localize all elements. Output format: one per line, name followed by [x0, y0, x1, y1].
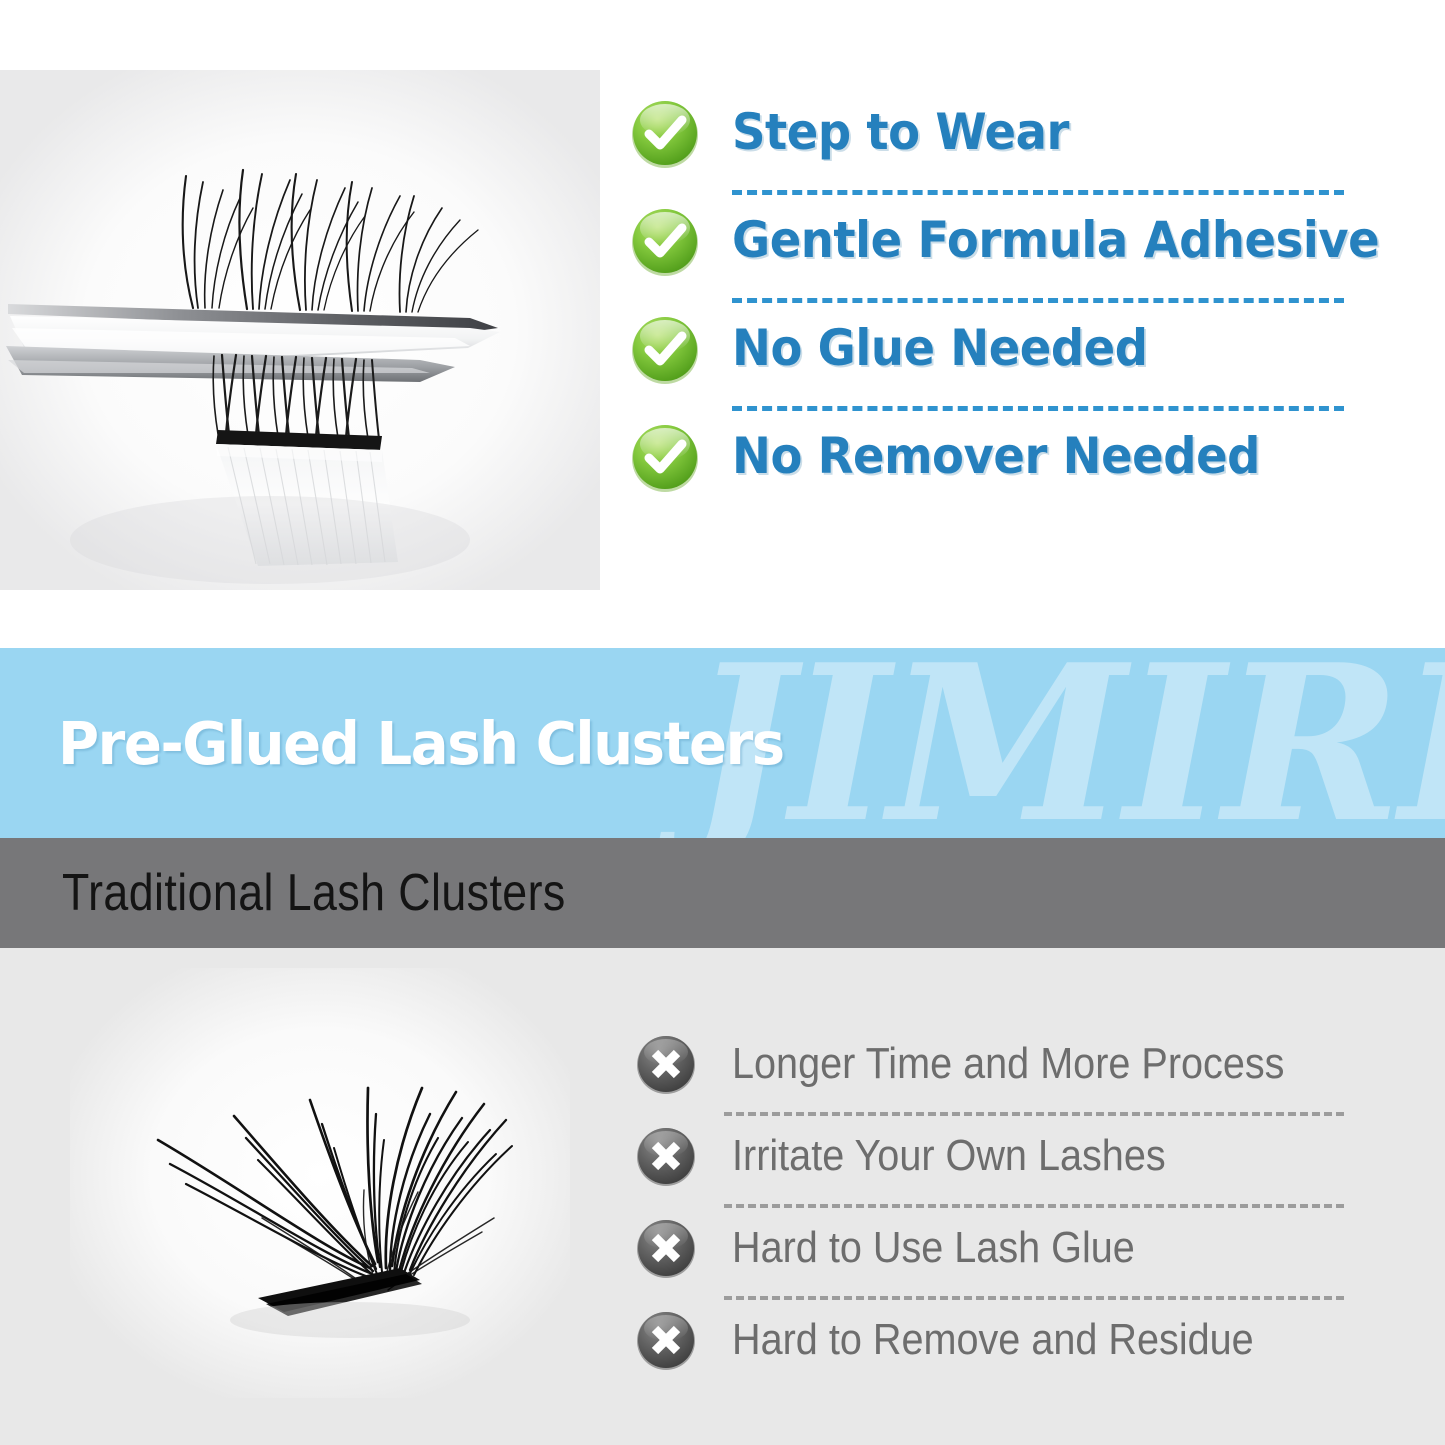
benefit-item: No Remover Needed — [628, 416, 1368, 524]
cross-circle-icon — [634, 1124, 698, 1188]
benefit-item: Gentle Formula Adhesive — [628, 200, 1368, 308]
traditional-band: Traditional Lash Clusters — [0, 838, 1445, 948]
cross-circle-icon — [634, 1032, 698, 1096]
preglued-lash-photo — [0, 70, 600, 590]
drawback-label: Hard to Remove and Residue — [732, 1304, 1254, 1376]
divider-dashed — [724, 1112, 1344, 1116]
divider-dashed — [732, 190, 1344, 195]
check-circle-icon — [628, 312, 702, 386]
drawback-label: Longer Time and More Process — [732, 1028, 1284, 1100]
preglued-banner: JIMIRE Pre-Glued Lash Clusters — [0, 648, 1445, 838]
drawback-item: Irritate Your Own Lashes — [628, 1120, 1368, 1212]
benefit-item: No Glue Needed — [628, 308, 1368, 416]
benefit-label: No Glue Needed — [732, 308, 1148, 388]
benefit-label: No Remover Needed — [732, 416, 1260, 496]
check-circle-icon — [628, 96, 702, 170]
divider-dashed — [732, 298, 1344, 303]
drawback-item: Hard to Remove and Residue — [628, 1304, 1368, 1396]
check-circle-icon — [628, 420, 702, 494]
check-circle-icon — [628, 204, 702, 278]
drawbacks-list: Longer Time and More Process Irritate Yo… — [628, 1028, 1368, 1396]
pre-glued-section: Step to Wear Gentle Formula Adhesive — [0, 0, 1445, 648]
drawback-label: Irritate Your Own Lashes — [732, 1120, 1166, 1192]
traditional-section: Longer Time and More Process Irritate Yo… — [0, 948, 1445, 1445]
benefit-label: Step to Wear — [732, 92, 1069, 172]
traditional-lash-photo — [70, 968, 570, 1398]
drawback-label: Hard to Use Lash Glue — [732, 1212, 1135, 1284]
cross-circle-icon — [634, 1308, 698, 1372]
brand-watermark: JIMIRE — [690, 648, 1445, 838]
benefit-item: Step to Wear — [628, 92, 1368, 200]
drawback-item: Longer Time and More Process — [628, 1028, 1368, 1120]
benefit-label: Gentle Formula Adhesive — [732, 200, 1379, 280]
drawback-item: Hard to Use Lash Glue — [628, 1212, 1368, 1304]
divider-dashed — [724, 1204, 1344, 1208]
benefits-list: Step to Wear Gentle Formula Adhesive — [628, 92, 1368, 524]
traditional-title: Traditional Lash Clusters — [62, 838, 566, 948]
banner-title: Pre-Glued Lash Clusters — [58, 648, 784, 838]
divider-dashed — [732, 406, 1344, 411]
divider-dashed — [724, 1296, 1344, 1300]
cross-circle-icon — [634, 1216, 698, 1280]
